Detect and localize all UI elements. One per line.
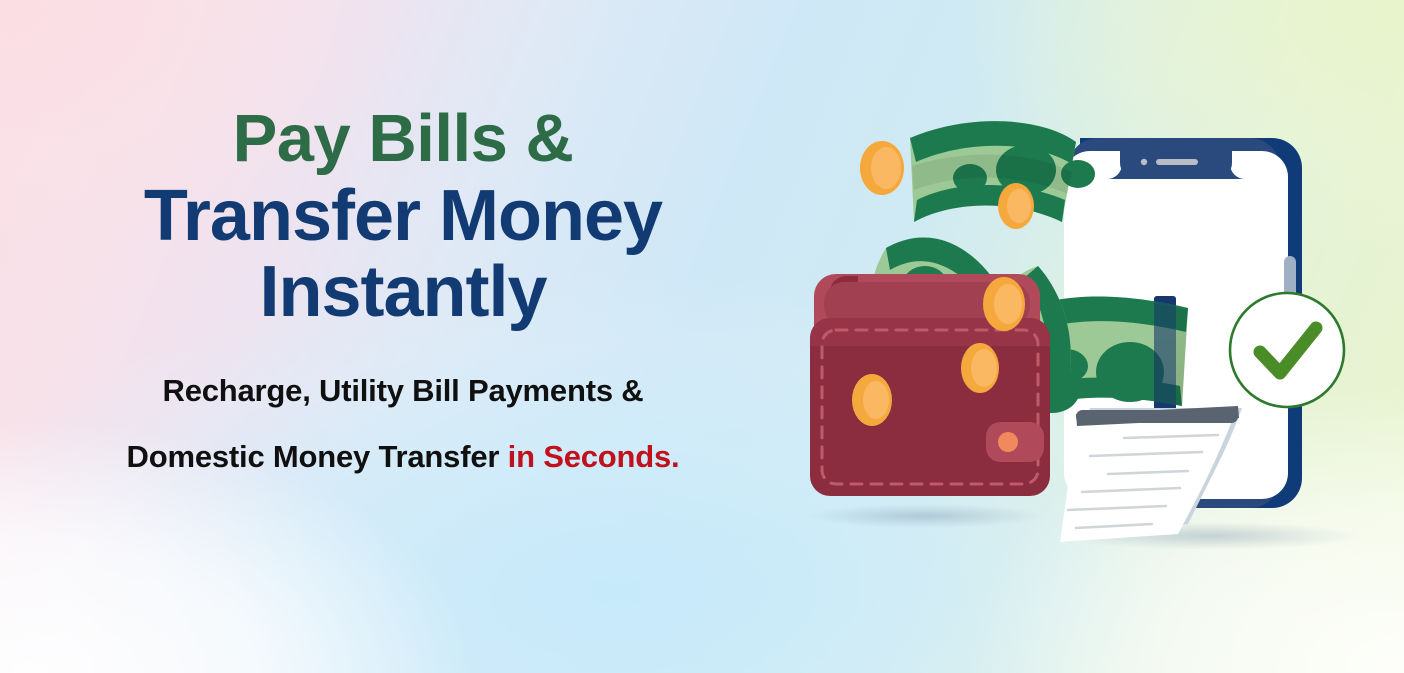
subheadline-plain-text: Domestic Money Transfer [127,439,508,474]
coin-icon [852,374,892,426]
subheadline-line-2: Domestic Money Transfer in Seconds. [0,439,806,475]
coin-icon [983,277,1025,331]
subheadline-line-1: Recharge, Utility Bill Payments & [0,373,806,409]
coin-icon [860,141,904,195]
money-transfer-illustration [790,96,1390,596]
phone-camera-icon [1141,159,1147,165]
banner-headline: Pay Bills & Transfer Money Instantly [0,104,806,329]
headline-line-3: Instantly [0,255,806,329]
phone-speaker-icon [1156,159,1198,165]
wallet-clasp [986,422,1044,462]
phone-notch [1120,151,1232,179]
banner-copy: Pay Bills & Transfer Money Instantly Rec… [0,104,806,475]
headline-line-2: Transfer Money [0,179,806,253]
floor-shadow-wallet [807,504,1043,528]
promo-banner: Pay Bills & Transfer Money Instantly Rec… [0,0,1404,673]
subheadline-accent-text: in Seconds. [508,439,680,474]
check-circle-icon [1230,293,1344,407]
headline-line-1: Pay Bills & [0,104,806,173]
coin-icon [998,183,1034,229]
coin-icon [961,343,999,393]
banner-subheadline: Recharge, Utility Bill Payments & Domest… [0,373,806,475]
